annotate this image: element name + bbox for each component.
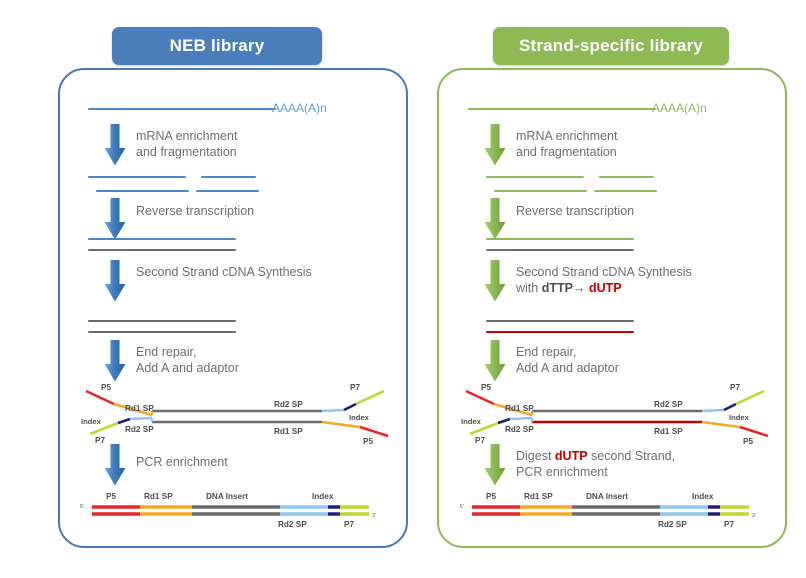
ss-arrow-second-strand (484, 260, 506, 302)
neb-adapter-p7-right (356, 391, 384, 404)
neb-adapter-label-rd2sp-left: Rd2 SP (125, 425, 154, 434)
neb-fragment-3 (96, 190, 189, 192)
neb-step-end-repair-line1: End repair, (136, 345, 239, 361)
ss-dttp-prefix: with (516, 281, 542, 295)
neb-adapter-label-rd1sp-left: Rd1 SP (125, 404, 154, 413)
neb-adapter-label-p5-left: P5 (101, 383, 111, 392)
ss-adapter-index-right (724, 404, 736, 410)
neb-arrow-pcr-enrichment (104, 444, 126, 486)
ss-adapter-rd2sp-left (510, 418, 532, 419)
neb-step-pcr-text: PCR enrichment (136, 455, 228, 471)
ss-step-digest-text: Digest dUTP second Strand, PCR enrichmen… (516, 449, 675, 480)
neb-adapter-label-p7-right: P7 (350, 383, 360, 392)
ss-step-mrna-line1: mRNA enrichment (516, 129, 617, 145)
ss-adapter-rd2sp-right (702, 410, 724, 411)
neb-final-label-rd2sp: Rd2 SP (278, 520, 307, 529)
neb-final-label-insert: DNA Insert (206, 492, 248, 501)
neb-adapter-p5-left (86, 391, 114, 404)
ss-step-digest-line1: Digest dUTP second Strand, (516, 449, 675, 465)
ss-digest-dutp-label: dUTP (555, 449, 588, 463)
neb-step-second-strand-line1: Second Strand cDNA Synthesis (136, 265, 312, 281)
ss-step-second-strand-line1: Second Strand cDNA Synthesis (516, 265, 692, 281)
neb-adapter-label-index-left: Index (81, 417, 102, 426)
neb-final-label-index: Index (312, 492, 334, 501)
neb-step-mrna-line2: and fragmentation (136, 145, 237, 161)
ss-final-label-rd2sp: Rd2 SP (658, 520, 687, 529)
ss-step-rt-line1: Reverse transcription (516, 204, 634, 220)
neb-arrow-reverse-transcription (104, 198, 126, 240)
panel-title-strand-specific-label: Strand-specific library (519, 36, 703, 56)
ss-final-label-index: Index (692, 492, 714, 501)
neb-step-second-strand-text: Second Strand cDNA Synthesis (136, 265, 312, 281)
neb-final-label-rd1sp: Rd1 SP (144, 492, 173, 501)
ss-final-3prime: 3' (752, 513, 756, 519)
neb-final-library-figure: 5' 3' P5 Rd1 SP DNA Insert Index Rd2 SP … (80, 486, 380, 530)
neb-arrow-mrna-enrichment (104, 124, 126, 166)
ss-final-label-rd1sp: Rd1 SP (524, 492, 553, 501)
ss-final-library-figure: 5' 3' P5 Rd1 SP DNA Insert Index Rd2 SP … (460, 486, 760, 530)
ss-dttp-label: dTTP (542, 281, 573, 295)
neb-hybrid-cdna (88, 249, 236, 251)
neb-adapter-label-rd1sp-right: Rd1 SP (274, 427, 303, 436)
neb-mrna-strand (88, 108, 276, 110)
ss-adapter-label-p7-right: P7 (730, 383, 740, 392)
neb-adapter-index-left (118, 419, 130, 423)
neb-adapter-index-right (344, 404, 356, 410)
neb-step-rt-text: Reverse transcription (136, 204, 254, 220)
neb-step-mrna-line1: mRNA enrichment (136, 129, 237, 145)
neb-dscdna-bottom (88, 331, 236, 333)
ss-dutp-label: dUTP (589, 281, 622, 295)
panel-title-neb: NEB library (112, 27, 322, 65)
neb-step-end-repair-text: End repair, Add A and adaptor (136, 345, 239, 376)
neb-dscdna-top (88, 320, 236, 322)
ss-fragment-3 (494, 190, 587, 192)
ss-mrna-strand (468, 108, 656, 110)
ss-digest-suffix: second Strand, (588, 449, 676, 463)
ss-hybrid-cdna (486, 249, 634, 251)
ss-digest-prefix: Digest (516, 449, 555, 463)
ss-step-end-repair-line2: Add A and adaptor (516, 361, 619, 377)
neb-fragment-2 (201, 176, 256, 178)
ss-adapter-p7-right (736, 391, 764, 404)
ss-adapter-label-p5-left: P5 (481, 383, 491, 392)
ss-adapter-label-index-right: Index (729, 413, 750, 422)
ss-fragment-2 (599, 176, 654, 178)
neb-polya-label: AAAA(A)n (272, 101, 327, 115)
ss-adapter-label-p7-left: P7 (475, 436, 485, 444)
neb-y-adapter-figure: P5 Rd1 SP Index Rd2 SP P7 Rd2 SP P7 Inde… (78, 382, 396, 444)
neb-hybrid-rna (88, 238, 236, 240)
ss-step-end-repair-text: End repair, Add A and adaptor (516, 345, 619, 376)
ss-fragment-4 (594, 190, 657, 192)
ss-final-label-p5: P5 (486, 492, 496, 501)
ss-adapter-label-rd1sp-left: Rd1 SP (505, 404, 534, 413)
neb-step-rt-line1: Reverse transcription (136, 204, 254, 220)
ss-arrow-mrna-enrichment (484, 124, 506, 166)
figure-canvas: NEB library Strand-specific library AAAA… (0, 0, 806, 578)
neb-step-mrna-text: mRNA enrichment and fragmentation (136, 129, 237, 160)
neb-adapter-label-index-right: Index (349, 413, 370, 422)
ss-adapter-label-rd1sp-right: Rd1 SP (654, 427, 683, 436)
neb-adapter-rd2sp-left (130, 418, 152, 419)
neb-fragment-1 (88, 176, 186, 178)
neb-final-label-p7: P7 (344, 520, 354, 529)
ss-hybrid-rna (486, 238, 634, 240)
ss-adapter-label-rd2sp-right: Rd2 SP (654, 400, 683, 409)
ss-step-end-repair-line1: End repair, (516, 345, 619, 361)
ss-adapter-label-p5-right: P5 (743, 437, 753, 444)
ss-adapter-label-index-left: Index (461, 417, 482, 426)
neb-step-pcr-line1: PCR enrichment (136, 455, 228, 471)
neb-adapter-p5-right (360, 427, 388, 436)
ss-fragment-1 (486, 176, 584, 178)
neb-adapter-rd2sp-right (322, 410, 344, 411)
neb-final-5prime: 5' (80, 504, 84, 510)
ss-dscdna-top (486, 320, 634, 322)
neb-adapter-label-p7-left: P7 (95, 436, 105, 444)
ss-final-label-p7: P7 (724, 520, 734, 529)
ss-arrow-reverse-transcription (484, 198, 506, 240)
ss-final-label-insert: DNA Insert (586, 492, 628, 501)
ss-final-5prime: 5' (460, 504, 464, 510)
ss-conversion-arrow-icon: → (573, 281, 586, 295)
ss-arrow-end-repair (484, 340, 506, 382)
neb-step-end-repair-line2: Add A and adaptor (136, 361, 239, 377)
neb-adapter-label-rd2sp-right: Rd2 SP (274, 400, 303, 409)
ss-dscdna-dutp-bottom (486, 331, 634, 333)
ss-adapter-p5-left (466, 391, 494, 404)
ss-arrow-digest-pcr (484, 444, 506, 486)
ss-adapter-label-rd2sp-left: Rd2 SP (505, 425, 534, 434)
neb-arrow-second-strand (104, 260, 126, 302)
panel-title-strand-specific: Strand-specific library (493, 27, 729, 65)
ss-step-rt-text: Reverse transcription (516, 204, 634, 220)
ss-step-second-strand-text: Second Strand cDNA Synthesis with dTTP→ … (516, 265, 692, 296)
ss-step-second-strand-line2: with dTTP→ dUTP (516, 281, 692, 297)
neb-arrow-end-repair (104, 340, 126, 382)
neb-final-label-p5: P5 (106, 492, 116, 501)
ss-y-adapter-figure: P5 Rd1 SP Index Rd2 SP P7 Rd2 SP P7 Inde… (458, 382, 776, 444)
ss-step-digest-line2: PCR enrichment (516, 465, 675, 481)
neb-fragment-4 (196, 190, 259, 192)
panel-title-neb-label: NEB library (170, 36, 265, 56)
ss-adapter-p5-right (740, 427, 768, 436)
ss-step-mrna-text: mRNA enrichment and fragmentation (516, 129, 617, 160)
ss-adapter-index-left (498, 419, 510, 423)
ss-step-mrna-line2: and fragmentation (516, 145, 617, 161)
ss-adapter-rd1sp-right (702, 422, 740, 427)
neb-adapter-label-p5-right: P5 (363, 437, 373, 444)
neb-adapter-rd1sp-right (322, 422, 360, 427)
ss-polya-label: AAAA(A)n (652, 101, 707, 115)
neb-final-3prime: 3' (372, 513, 376, 519)
